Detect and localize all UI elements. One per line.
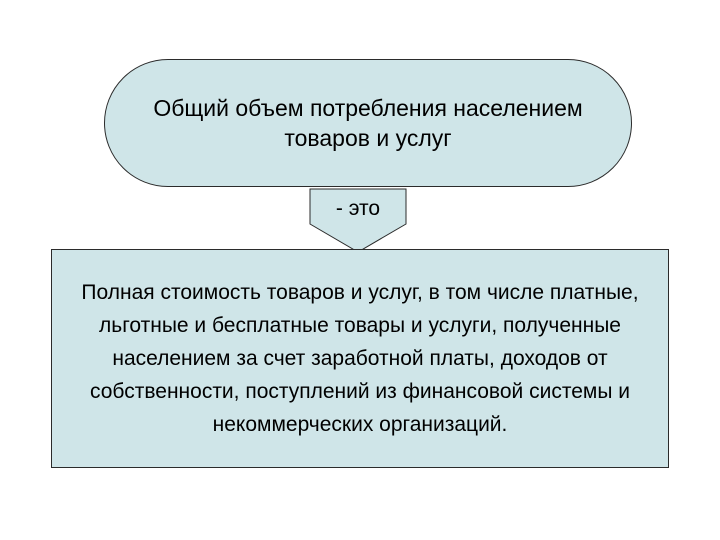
definition-term-text: Общий объем потребления населением товар… <box>148 93 588 153</box>
connector-arrow: - это <box>309 188 407 253</box>
connector-label: - это <box>309 196 407 222</box>
definition-term-box: Общий объем потребления населением товар… <box>104 59 632 187</box>
definition-body-box: Полная стоимость товаров и услуг, в том … <box>51 249 669 468</box>
slide-canvas: Общий объем потребления населением товар… <box>0 0 720 540</box>
definition-body-text: Полная стоимость товаров и услуг, в том … <box>67 276 653 441</box>
